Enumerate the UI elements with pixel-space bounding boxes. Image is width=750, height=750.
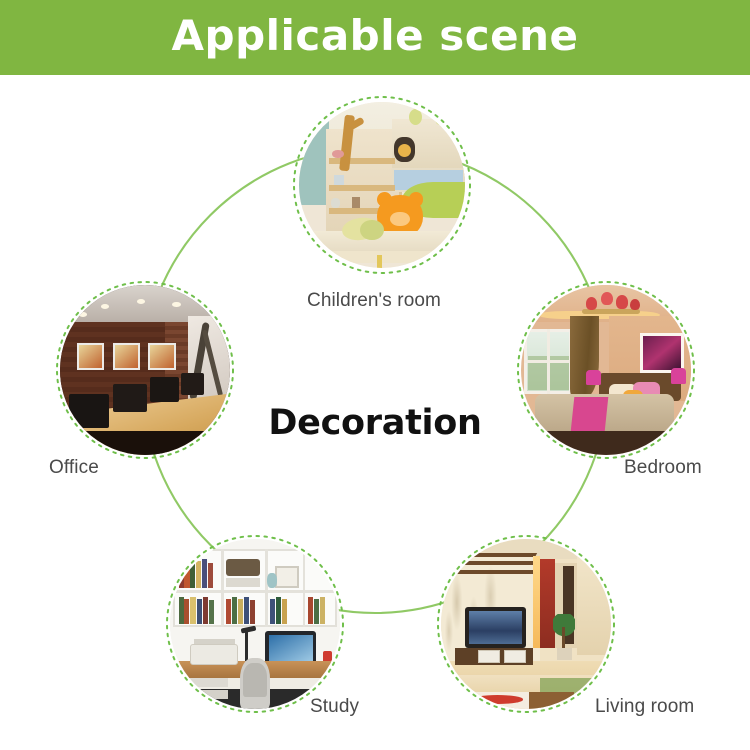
applicable-scene-diagram: Decoration Children's room Office Bedroo… [0,75,750,750]
header-band: Applicable scene [0,0,750,75]
node-label-office: Office [49,457,99,479]
node-label-children-room: Children's room [307,290,441,312]
page-title: Applicable scene [0,0,750,75]
scene-image-study[interactable] [170,539,340,709]
node-label-living-room: Living room [595,696,694,718]
scene-image-children[interactable] [299,102,465,268]
scene-image-living-room[interactable] [441,539,611,709]
node-label-study: Study [310,696,359,718]
node-label-bedroom: Bedroom [624,457,702,479]
diagram-center-label: Decoration [0,403,750,443]
